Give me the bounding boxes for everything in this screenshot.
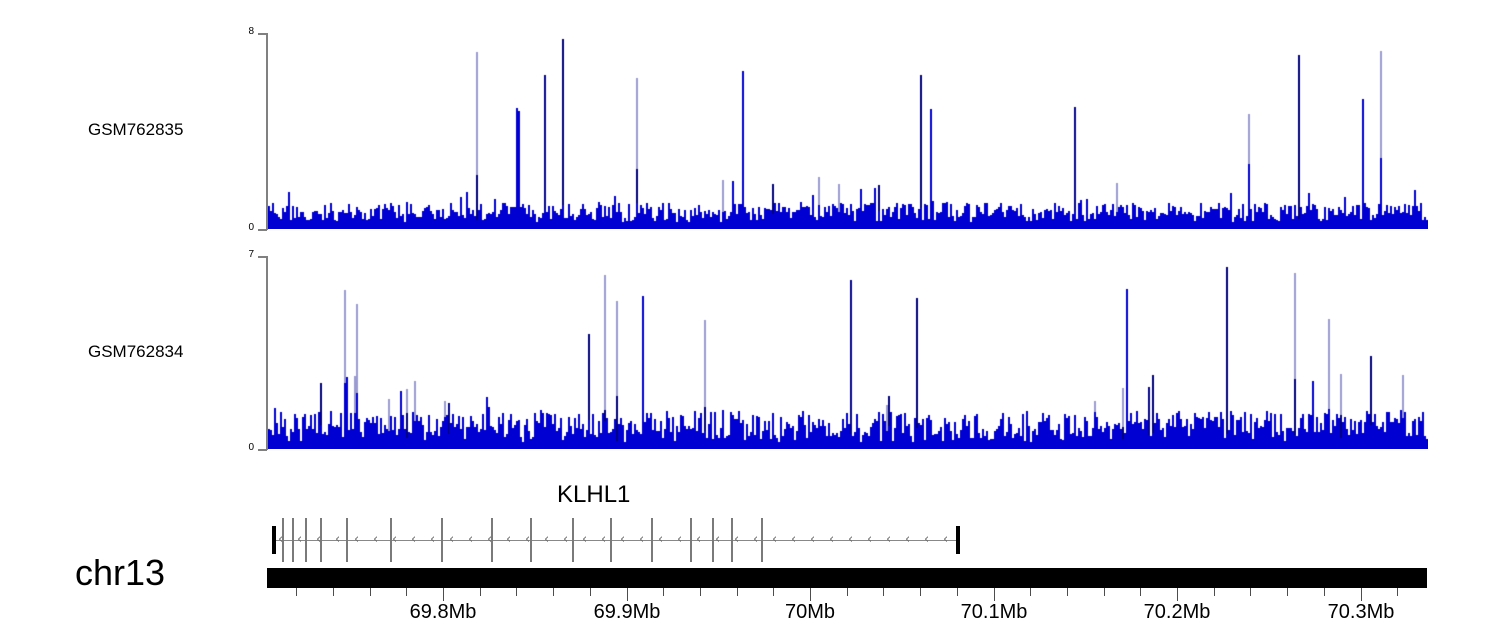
ruler-tick-label: 69.8Mb — [383, 601, 503, 624]
ruler-minor-tick — [1067, 588, 1068, 596]
ruler-minor-tick — [1397, 588, 1398, 596]
ruler-minor-tick — [883, 588, 884, 596]
gene-strand-arrow-icon: ‹ — [563, 533, 568, 546]
ruler-minor-tick — [296, 588, 297, 596]
ruler-minor-tick — [1214, 588, 1215, 596]
ruler-minor-tick — [920, 588, 921, 596]
ruler-tick-label: 70Mb — [750, 601, 870, 624]
track-axis-tick-min-gsm762834 — [258, 449, 267, 451]
gene-strand-arrow-icon: ‹ — [582, 533, 587, 546]
ruler-minor-tick — [773, 588, 774, 596]
gene-exon-tick — [572, 518, 574, 562]
gene-exon-tick — [305, 518, 307, 562]
ruler-minor-tick — [1140, 588, 1141, 596]
ruler-tick-label: 70.1Mb — [934, 601, 1054, 624]
gene-exon-tick — [491, 518, 493, 562]
coverage-plot-gsm762834[interactable] — [268, 256, 1428, 449]
gene-strand-arrow-icon: ‹ — [734, 533, 739, 546]
gene-strand-arrow-icon: ‹ — [658, 533, 663, 546]
gene-name-label: KLHL1 — [557, 481, 630, 509]
gene-exon-tick — [651, 518, 653, 562]
track-label-gsm762834: GSM762834 — [88, 342, 183, 362]
gene-exon-tick — [441, 518, 443, 562]
gene-strand-arrow-icon: ‹ — [392, 533, 397, 546]
ruler-minor-tick — [406, 588, 407, 596]
track-axis-min-gsm762834: 0 — [232, 442, 254, 453]
genome-browser-view: GSM762835 8 0 GSM762834 7 0 KLHL1 ‹‹‹‹‹‹… — [0, 0, 1500, 640]
ruler-major-tick — [443, 588, 444, 601]
ruler-major-tick — [810, 588, 811, 601]
gene-strand-arrow-icon: ‹ — [506, 533, 511, 546]
coverage-plot-gsm762835[interactable] — [268, 33, 1428, 229]
ruler-minor-tick — [590, 588, 591, 596]
gene-terminal-exon — [956, 526, 960, 554]
gene-exon-tick — [282, 518, 284, 562]
gene-strand-arrow-icon: ‹ — [772, 533, 777, 546]
gene-strand-arrow-icon: ‹ — [867, 533, 872, 546]
gene-exon-tick — [346, 518, 348, 562]
gene-strand-arrow-icon: ‹ — [810, 533, 815, 546]
ruler-minor-tick — [553, 588, 554, 596]
gene-terminal-exon — [272, 526, 276, 554]
gene-strand-arrow-icon: ‹ — [468, 533, 473, 546]
ruler-minor-tick — [1104, 588, 1105, 596]
ruler-minor-tick — [370, 588, 371, 596]
ruler-minor-tick — [700, 588, 701, 596]
gene-strand-arrow-icon: ‹ — [696, 533, 701, 546]
gene-exon-tick — [610, 518, 612, 562]
gene-strand-arrow-icon: ‹ — [848, 533, 853, 546]
gene-strand-arrow-icon: ‹ — [335, 533, 340, 546]
gene-exon-tick — [731, 518, 733, 562]
gene-exon-tick — [292, 518, 294, 562]
gene-exon-tick — [390, 518, 392, 562]
ruler-minor-tick — [1250, 588, 1251, 596]
gene-strand-arrow-icon: ‹ — [639, 533, 644, 546]
gene-exon-tick — [320, 518, 322, 562]
ruler-minor-tick — [516, 588, 517, 596]
track-axis-min-gsm762835: 0 — [232, 222, 254, 233]
chromosome-ideogram-bar[interactable] — [267, 568, 1427, 588]
ruler-major-tick — [627, 588, 628, 601]
ruler-tick-label: 69.9Mb — [567, 601, 687, 624]
gene-strand-arrow-icon: ‹ — [924, 533, 929, 546]
track-label-gsm762835: GSM762835 — [88, 120, 183, 140]
ruler-tick-label: 70.3Mb — [1301, 601, 1421, 624]
gene-strand-arrow-icon: ‹ — [943, 533, 948, 546]
ruler-major-tick — [994, 588, 995, 601]
ruler-minor-tick — [1030, 588, 1031, 596]
gene-strand-arrow-icon: ‹ — [297, 533, 302, 546]
chromosome-label: chr13 — [75, 552, 165, 594]
gene-strand-arrow-icon: ‹ — [791, 533, 796, 546]
gene-strand-arrow-icon: ‹ — [354, 533, 359, 546]
gene-strand-arrow-icon: ‹ — [601, 533, 606, 546]
gene-strand-arrow-icon: ‹ — [829, 533, 834, 546]
track-axis-tick-max-gsm762834 — [258, 256, 267, 258]
ruler-minor-tick — [1287, 588, 1288, 596]
gene-strand-arrow-icon: ‹ — [677, 533, 682, 546]
ruler-minor-tick — [663, 588, 664, 596]
ruler-minor-tick — [333, 588, 334, 596]
gene-strand-arrow-icon: ‹ — [620, 533, 625, 546]
gene-strand-arrow-icon: ‹ — [411, 533, 416, 546]
ruler-major-tick — [1361, 588, 1362, 601]
gene-exon-tick — [530, 518, 532, 562]
ruler-minor-tick — [957, 588, 958, 596]
track-axis-max-gsm762835: 8 — [232, 26, 254, 37]
track-axis-tick-max-gsm762835 — [258, 33, 267, 35]
ruler-tick-label: 70.2Mb — [1117, 601, 1237, 624]
ruler-minor-tick — [847, 588, 848, 596]
gene-strand-arrow-icon: ‹ — [715, 533, 720, 546]
gene-strand-arrow-icon: ‹ — [886, 533, 891, 546]
gene-strand-arrow-icon: ‹ — [430, 533, 435, 546]
ruler-minor-tick — [480, 588, 481, 596]
track-axis-tick-min-gsm762835 — [258, 229, 267, 231]
track-axis-max-gsm762834: 7 — [232, 249, 254, 260]
ruler-major-tick — [1177, 588, 1178, 601]
gene-exon-tick — [712, 518, 714, 562]
ruler-minor-tick — [1324, 588, 1325, 596]
ruler-minor-tick — [737, 588, 738, 596]
gene-exon-tick — [690, 518, 692, 562]
gene-strand-arrow-icon: ‹ — [753, 533, 758, 546]
gene-exon-tick — [761, 518, 763, 562]
gene-strand-arrow-icon: ‹ — [373, 533, 378, 546]
gene-strand-arrow-icon: ‹ — [905, 533, 910, 546]
gene-strand-arrow-icon: ‹ — [544, 533, 549, 546]
gene-strand-arrow-icon: ‹ — [449, 533, 454, 546]
